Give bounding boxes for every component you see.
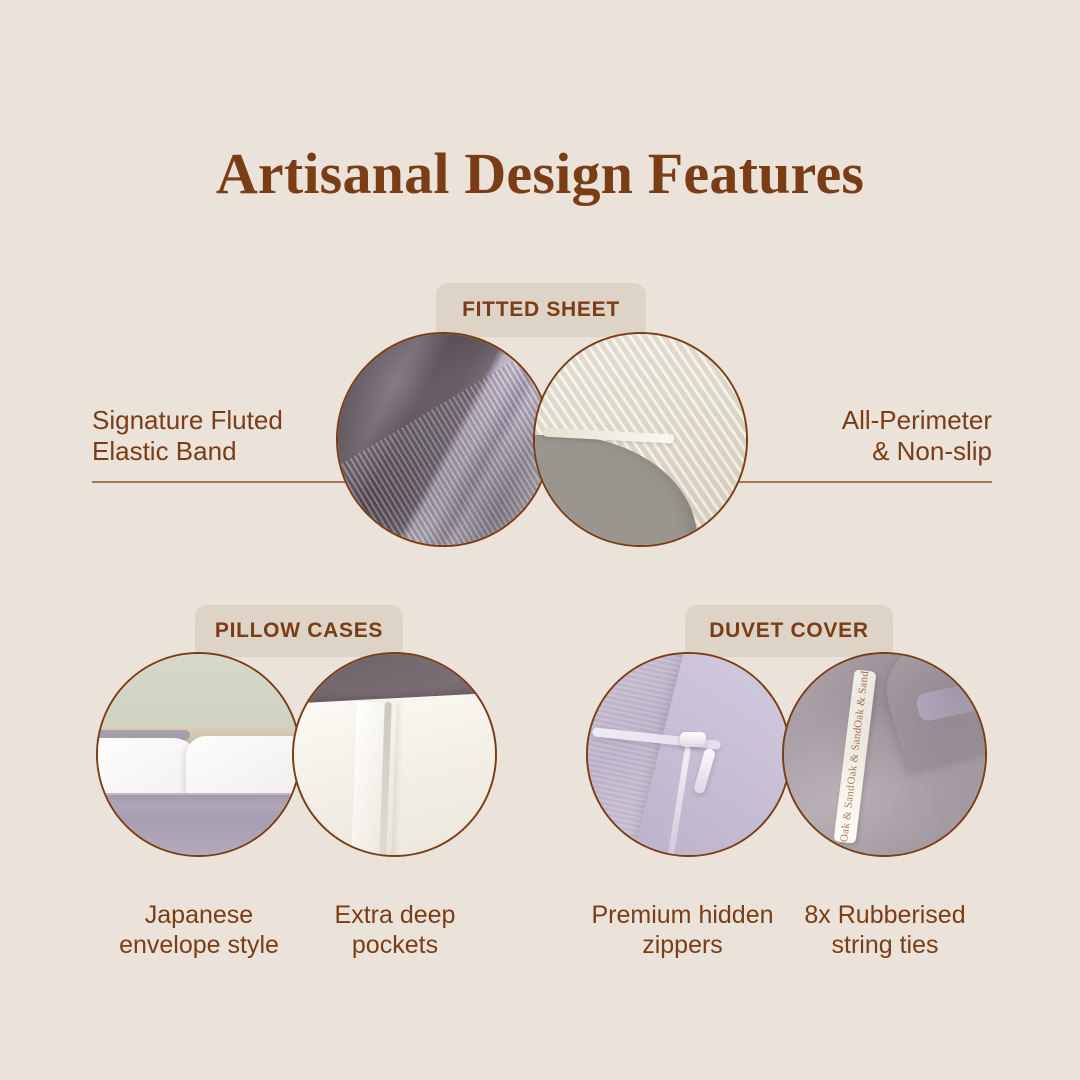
section-badge-duvet-cover: DUVET COVER (685, 605, 893, 657)
caption-line-1: Japanese (145, 901, 253, 929)
section-badge-fitted-sheet: FITTED SHEET (436, 283, 646, 337)
caption-line-1: Premium hidden (591, 901, 773, 929)
caption-extra-deep-pockets: Extra deep pockets (300, 900, 490, 960)
photo-envelope-closure-image (294, 654, 495, 855)
photo-hidden-zipper-image (588, 654, 789, 855)
caption-line-2: string ties (790, 930, 980, 960)
caption-line-1: 8x Rubberised (804, 901, 965, 929)
callout-line-1: Signature Fluted (92, 405, 283, 435)
photo-hidden-zipper (586, 652, 791, 857)
photo-envelope-closure (292, 652, 497, 857)
callout-signature-fluted-elastic-band: Signature Fluted Elastic Band (92, 405, 342, 466)
photo-sheet-corner-image (535, 334, 746, 545)
section-badge-pillow-cases: PILLOW CASES (195, 605, 403, 657)
page-title: Artisanal Design Features (0, 145, 1080, 203)
photo-sheet-corner (533, 332, 748, 547)
callout-line-2: Elastic Band (92, 436, 342, 467)
photo-bed-scene (96, 652, 301, 857)
caption-japanese-envelope-style: Japanese envelope style (108, 900, 290, 960)
fabric-shading (784, 654, 985, 855)
photo-string-tie: Oak & Sand Oak & Sand Oak & Sand (782, 652, 987, 857)
photo-bed-scene-image (98, 654, 299, 855)
caption-line-2: envelope style (108, 930, 290, 960)
photo-elastic-band (336, 332, 551, 547)
caption-line-1: Extra deep (335, 901, 456, 929)
caption-line-2: pockets (300, 930, 490, 960)
infographic-canvas: Artisanal Design Features FITTED SHEET S… (0, 0, 1080, 1080)
callout-line-1: All-Perimeter (842, 405, 992, 435)
photo-elastic-band-image (338, 334, 549, 545)
fabric-sheen (338, 334, 549, 545)
zipper-slider (680, 732, 706, 747)
caption-line-2: zippers (580, 930, 785, 960)
callout-all-perimeter-non-slip: All-Perimeter & Non-slip (740, 405, 992, 466)
caption-rubberised-string-ties: 8x Rubberised string ties (790, 900, 980, 960)
caption-premium-hidden-zippers: Premium hidden zippers (580, 900, 785, 960)
callout-line-2: & Non-slip (740, 436, 992, 467)
wall-backdrop (98, 654, 299, 734)
photo-string-tie-image: Oak & Sand Oak & Sand Oak & Sand (784, 654, 985, 855)
duvet-body (98, 795, 299, 857)
